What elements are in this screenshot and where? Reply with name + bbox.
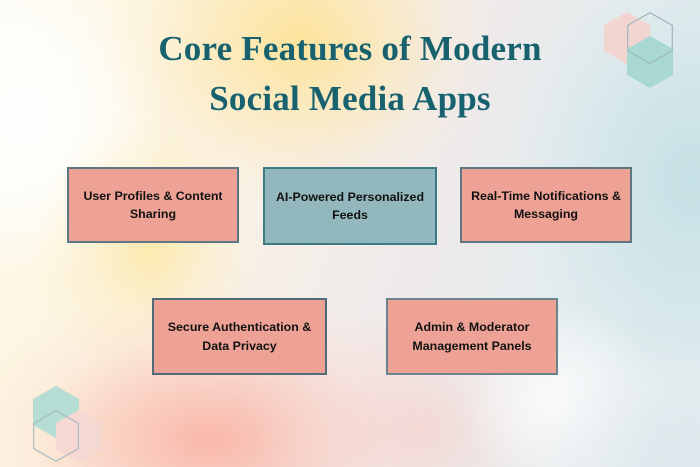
hexagon-cluster-bottom-left [33,386,111,466]
page-title-line-2: Social Media Apps [0,74,700,124]
outline-hexagon-icon [33,410,79,462]
page-title-line-1: Core Features of Modern [0,24,700,74]
feature-box-ai-powered-personalized-feeds[interactable]: AI-Powered Personalized Feeds [263,167,437,245]
feature-box-user-profiles-content-sharing[interactable]: User Profiles & Content Sharing [67,167,239,243]
feature-box-real-time-notifications-messaging[interactable]: Real-Time Notifications & Messaging [460,167,632,243]
feature-box-label: User Profiles & Content Sharing [78,187,228,224]
feature-box-secure-authentication-data-privacy[interactable]: Secure Authentication & Data Privacy [152,298,327,375]
slide-canvas: Core Features of Modern Social Media App… [0,0,700,467]
page-title: Core Features of Modern Social Media App… [0,24,700,123]
feature-box-label: Admin & Moderator Management Panels [397,318,547,355]
feature-box-label: Secure Authentication & Data Privacy [163,318,316,355]
feature-box-label: Real-Time Notifications & Messaging [471,187,621,224]
feature-box-label: AI-Powered Personalized Feeds [274,188,426,225]
feature-box-admin-moderator-management-panels[interactable]: Admin & Moderator Management Panels [386,298,558,375]
